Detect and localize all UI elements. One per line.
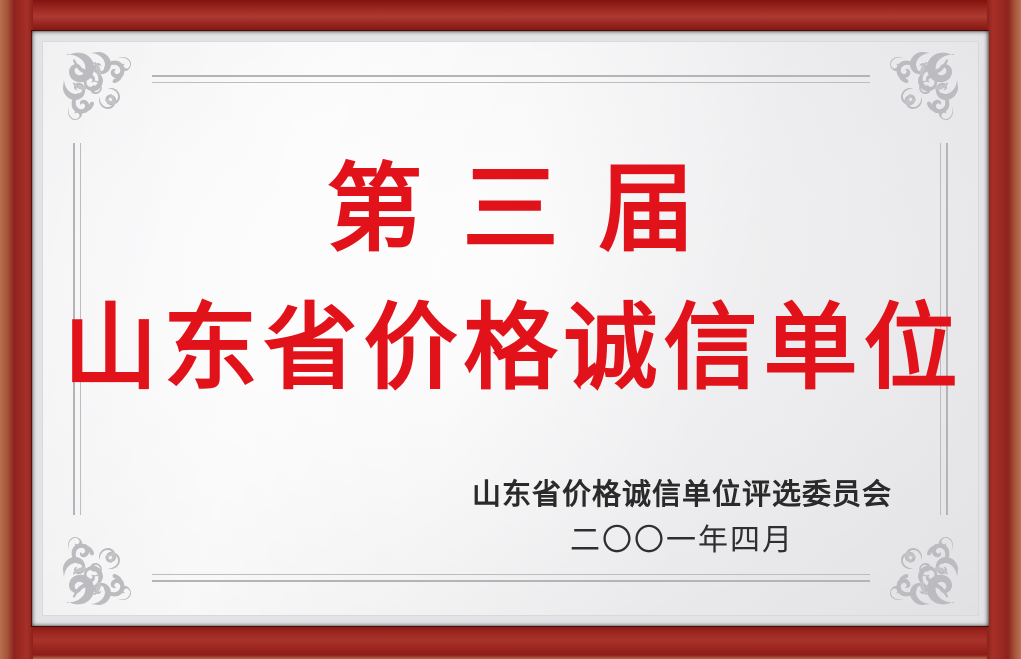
award-title-line-1: 第三届	[32, 159, 989, 260]
award-title-line-2: 山东省价格诚信单位	[32, 299, 989, 398]
frame-edge-right	[987, 0, 1021, 659]
frame-edge-top	[0, 0, 1021, 32]
plaque-content: 第三届 山东省价格诚信单位 山东省价格诚信单位评选委员会 二〇〇一年四月	[32, 31, 989, 626]
issuing-committee: 山东省价格诚信单位评选委员会	[472, 471, 892, 513]
plaque-face: 第三届 山东省价格诚信单位 山东省价格诚信单位评选委员会 二〇〇一年四月	[32, 31, 989, 626]
frame-edge-left	[0, 0, 33, 659]
frame-edge-bottom	[0, 625, 1021, 659]
issue-date: 二〇〇一年四月	[472, 515, 892, 559]
award-plaque-image: 第三届 山东省价格诚信单位 山东省价格诚信单位评选委员会 二〇〇一年四月	[0, 0, 1021, 659]
